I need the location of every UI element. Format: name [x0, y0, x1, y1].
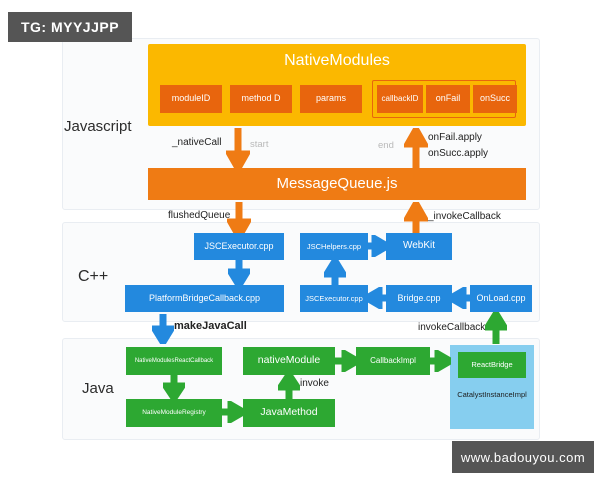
- cpp-box-onload: OnLoad.cpp: [470, 285, 532, 312]
- cpp-box-jsc-executor-top: JSCExecutor.cpp: [194, 233, 284, 260]
- java-box-react-bridge: ReactBridge: [458, 352, 526, 378]
- java-label-catalyst-instance-impl: CatalystInstanceImpl: [450, 390, 534, 399]
- arrow-label-invoke-callback-cpp: invokeCallback: [418, 322, 485, 333]
- java-box-callback-impl: CallbackImpl: [356, 347, 430, 375]
- arrow-invoke-callback-cpp-up: [485, 312, 507, 344]
- arrow-bridge-to-jsc2: [366, 287, 388, 309]
- arrow-label-start: start: [250, 139, 268, 150]
- arrow-nativemodule-to-callbackimpl: [334, 350, 358, 372]
- arrow-make-java-call-down: [152, 314, 174, 344]
- arrow-jsc2-to-jschelpers: [324, 258, 346, 288]
- cpp-box-jsc-helpers: JSCHelpers.cpp: [300, 233, 368, 260]
- chip-params: params: [300, 85, 362, 113]
- arrow-native-call-down: [226, 128, 250, 170]
- java-box-native-module-registry: NativeModuleRegistry: [126, 399, 222, 427]
- arrow-javamethod-to-nativemodule: [278, 374, 300, 400]
- chip-callback-id: callbackID: [377, 85, 423, 113]
- arrow-jschelpers-to-webkit: [366, 235, 388, 257]
- arrow-label-invoke-callback-js: _invokeCallback: [428, 211, 501, 222]
- watermark-top: TG: MYYJJPP: [8, 12, 132, 42]
- arrow-label-make-java-call: makeJavaCall: [174, 320, 247, 332]
- arrow-nmr-to-javamethod: [222, 401, 244, 423]
- chip-module-id: moduleID: [160, 85, 222, 113]
- native-modules-title: NativeModules: [148, 52, 526, 70]
- layer-label-java: Java: [82, 380, 114, 397]
- arrow-label-invoke: invoke: [300, 378, 329, 389]
- layer-label-cpp: C++: [78, 268, 108, 286]
- cpp-box-webkit: WebKit: [386, 233, 452, 260]
- diagram-canvas: Javascript C++ Java NativeModules module…: [0, 0, 600, 480]
- chip-on-fail: onFail: [426, 85, 470, 113]
- java-box-native-modules-react-callback: NativeModulesReactCallback: [126, 347, 222, 375]
- arrow-label-onsucc-apply: onSucc.apply: [428, 148, 488, 159]
- watermark-bottom: www.badouyou.com: [452, 441, 594, 473]
- arrow-label-end: end: [378, 140, 394, 151]
- java-box-java-method: JavaMethod: [243, 399, 335, 427]
- cpp-box-jsc-executor-bottom: JSCExecutor.cpp: [300, 285, 368, 312]
- chip-method-id: method D: [230, 85, 292, 113]
- cpp-box-bridge: Bridge.cpp: [386, 285, 452, 312]
- arrow-callback-apply-up: [404, 128, 428, 170]
- arrow-label-onfail-apply: onFail.apply: [428, 132, 482, 143]
- layer-label-javascript: Javascript: [64, 118, 132, 135]
- arrow-callbackimpl-to-catalyst: [429, 350, 451, 372]
- chip-on-succ: onSucc: [473, 85, 517, 113]
- message-queue-box: MessageQueue.js: [148, 168, 526, 200]
- cpp-box-platform-bridge-callback: PlatformBridgeCallback.cpp: [125, 285, 284, 312]
- arrow-onload-to-bridge: [450, 287, 472, 309]
- arrow-jsc-to-pbc: [228, 259, 250, 287]
- java-box-native-module: nativeModule: [243, 347, 335, 375]
- arrow-label-flushed-queue: flushedQueue: [168, 210, 230, 221]
- arrow-nmrc-to-nmr: [163, 374, 185, 400]
- arrow-label-native-call: _nativeCall: [172, 137, 221, 148]
